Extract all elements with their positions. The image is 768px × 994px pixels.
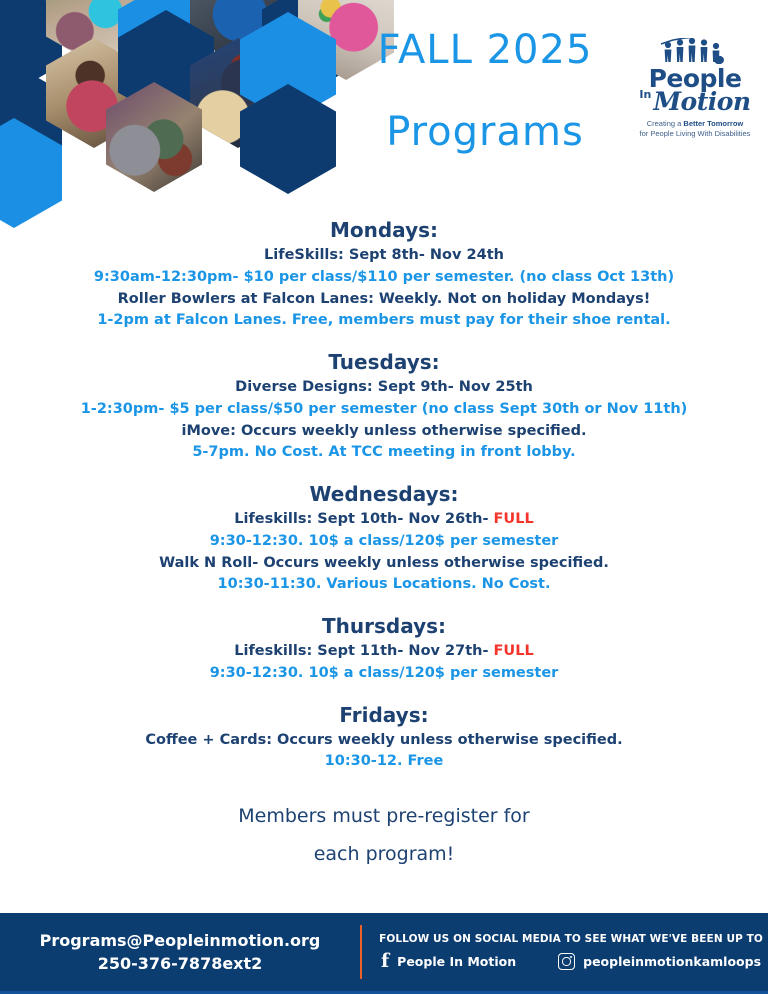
day-group: Fridays:Coffee + Cards: Occurs weekly un… bbox=[0, 703, 768, 774]
program-line-text: 9:30-12:30. 10$ a class/120$ per semeste… bbox=[210, 533, 559, 549]
day-group: Thursdays:Lifeskills: Sept 11th- Nov 27t… bbox=[0, 614, 768, 685]
logo-tagline-c: for People Living With Disabilities bbox=[640, 129, 751, 138]
program-line: Diverse Designs: Sept 9th- Nov 25th bbox=[0, 377, 768, 399]
facebook-handle: People In Motion bbox=[397, 954, 516, 969]
day-group: Wednesdays:Lifeskills: Sept 10th- Nov 26… bbox=[0, 482, 768, 596]
logo-tagline: Creating a Better Tomorrow for People Li… bbox=[636, 119, 754, 139]
instagram-icon bbox=[558, 953, 575, 970]
title-programs: Programs bbox=[330, 112, 640, 152]
program-line: Walk N Roll- Occurs weekly unless otherw… bbox=[0, 553, 768, 575]
program-line-text: 5-7pm. No Cost. At TCC meeting in front … bbox=[192, 444, 575, 460]
logo-word-in: In bbox=[639, 89, 651, 100]
program-line: 9:30-12:30. 10$ a class/120$ per semeste… bbox=[0, 531, 768, 553]
day-heading: Mondays: bbox=[0, 218, 768, 243]
contact-footer: Programs@Peopleinmotion.org 250-376-7878… bbox=[0, 913, 768, 994]
program-line: 9:30-12:30. 10$ a class/120$ per semeste… bbox=[0, 663, 768, 685]
footer-phone[interactable]: 250-376-7878ext2 bbox=[0, 952, 360, 975]
people-in-motion-logo: People InMotion Creating a Better Tomorr… bbox=[636, 38, 754, 156]
footer-email[interactable]: Programs@Peopleinmotion.org bbox=[0, 929, 360, 952]
program-line-text: Diverse Designs: Sept 9th- Nov 25th bbox=[235, 379, 533, 395]
program-line: 1-2:30pm- $5 per class/$50 per semester … bbox=[0, 399, 768, 421]
footer-contact-block: Programs@Peopleinmotion.org 250-376-7878… bbox=[0, 929, 360, 975]
title-season-year: FALL 2025 bbox=[330, 30, 640, 70]
logo-word-motion: Motion bbox=[653, 87, 750, 116]
logo-tagline-a: Creating a bbox=[647, 119, 684, 128]
program-line: 1-2pm at Falcon Lanes. Free, members mus… bbox=[0, 310, 768, 332]
registration-note-line2: each program! bbox=[0, 835, 768, 873]
social-facebook[interactable]: f People In Motion bbox=[381, 952, 516, 971]
logo-figures-icon bbox=[659, 38, 731, 64]
program-line-text: 10:30-12. Free bbox=[325, 753, 444, 769]
program-line-text: 9:30-12:30. 10$ a class/120$ per semeste… bbox=[210, 665, 559, 681]
program-line-text: Roller Bowlers at Falcon Lanes: Weekly. … bbox=[118, 291, 651, 307]
program-line-text: Lifeskills: Sept 10th- Nov 26th- bbox=[234, 511, 493, 527]
day-group: Tuesdays:Diverse Designs: Sept 9th- Nov … bbox=[0, 350, 768, 464]
registration-note-line1: Members must pre-register for bbox=[0, 797, 768, 835]
day-heading: Tuesdays: bbox=[0, 350, 768, 375]
program-line: Lifeskills: Sept 11th- Nov 27th- FULL bbox=[0, 641, 768, 663]
program-line: 10:30-11:30. Various Locations. No Cost. bbox=[0, 574, 768, 596]
registration-note: Members must pre-register foreach progra… bbox=[0, 797, 768, 873]
status-badge-full: FULL bbox=[494, 643, 534, 659]
day-heading: Fridays: bbox=[0, 703, 768, 728]
program-schedule: Mondays:LifeSkills: Sept 8th- Nov 24th9:… bbox=[0, 218, 768, 873]
program-line: LifeSkills: Sept 8th- Nov 24th bbox=[0, 245, 768, 267]
program-line: 5-7pm. No Cost. At TCC meeting in front … bbox=[0, 442, 768, 464]
program-line: iMove: Occurs weekly unless otherwise sp… bbox=[0, 421, 768, 443]
day-heading: Wednesdays: bbox=[0, 482, 768, 507]
footer-follow-text: FOLLOW US ON SOCIAL MEDIA TO SEE WHAT WE… bbox=[374, 933, 768, 945]
program-line-text: Lifeskills: Sept 11th- Nov 27th- bbox=[234, 643, 493, 659]
program-line-text: Walk N Roll- Occurs weekly unless otherw… bbox=[159, 555, 609, 571]
instagram-handle: peopleinmotionkamloops bbox=[583, 954, 761, 969]
program-line-text: LifeSkills: Sept 8th- Nov 24th bbox=[264, 247, 504, 263]
program-line: Roller Bowlers at Falcon Lanes: Weekly. … bbox=[0, 289, 768, 311]
facebook-icon: f bbox=[381, 952, 389, 971]
program-line-text: 1-2:30pm- $5 per class/$50 per semester … bbox=[81, 401, 688, 417]
program-line-text: iMove: Occurs weekly unless otherwise sp… bbox=[181, 423, 586, 439]
footer-social-block: FOLLOW US ON SOCIAL MEDIA TO SEE WHAT WE… bbox=[374, 933, 768, 971]
program-line-text: 1-2pm at Falcon Lanes. Free, members mus… bbox=[97, 312, 670, 328]
logo-tagline-b: Better Tomorrow bbox=[683, 119, 743, 128]
program-line: 10:30-12. Free bbox=[0, 751, 768, 773]
day-heading: Thursdays: bbox=[0, 614, 768, 639]
program-line-text: 10:30-11:30. Various Locations. No Cost. bbox=[218, 576, 551, 592]
header-banner: FALL 2025 Programs People InMotion Creat… bbox=[0, 0, 768, 195]
social-instagram[interactable]: peopleinmotionkamloops bbox=[558, 953, 761, 970]
program-line: Coffee + Cards: Occurs weekly unless oth… bbox=[0, 730, 768, 752]
program-line: Lifeskills: Sept 10th- Nov 26th- FULL bbox=[0, 509, 768, 531]
program-line-text: Coffee + Cards: Occurs weekly unless oth… bbox=[145, 732, 622, 748]
day-group: Mondays:LifeSkills: Sept 8th- Nov 24th9:… bbox=[0, 218, 768, 332]
footer-divider bbox=[360, 925, 362, 979]
program-line-text: 9:30am-12:30pm- $10 per class/$110 per s… bbox=[94, 269, 674, 285]
status-badge-full: FULL bbox=[494, 511, 534, 527]
program-line: 9:30am-12:30pm- $10 per class/$110 per s… bbox=[0, 267, 768, 289]
page-title: FALL 2025 Programs bbox=[330, 30, 640, 152]
